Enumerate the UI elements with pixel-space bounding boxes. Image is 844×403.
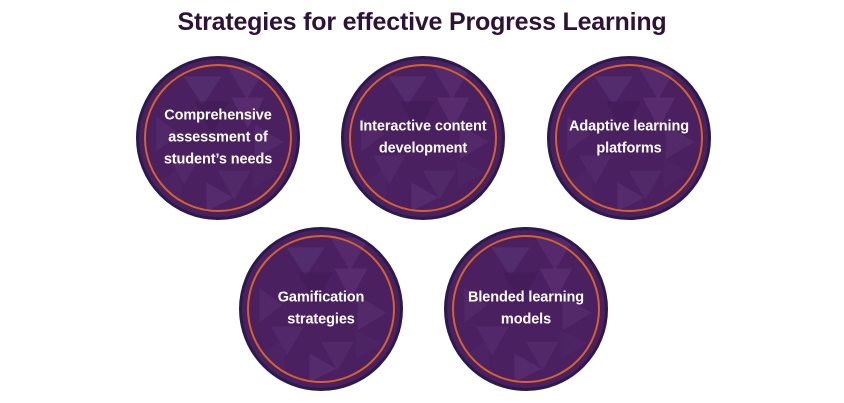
page-title: Strategies for effective Progress Learni… — [0, 8, 844, 37]
strategy-circle-interactive-content[interactable]: Interactive content development — [341, 56, 505, 220]
strategy-label: Gamification strategies — [250, 287, 392, 331]
strategy-circle-gamification[interactable]: Gamification strategies — [239, 227, 403, 391]
strategy-circle-comprehensive-assessment[interactable]: Comprehensive assessment of student’s ne… — [136, 56, 300, 220]
strategy-label: Interactive content development — [352, 116, 494, 160]
strategy-label: Blended learning models — [455, 287, 597, 331]
strategy-label: Comprehensive assessment of student’s ne… — [147, 105, 289, 170]
strategy-label: Adaptive learning platforms — [558, 116, 700, 160]
strategy-circle-adaptive-learning[interactable]: Adaptive learning platforms — [547, 56, 711, 220]
diagram-canvas: Strategies for effective Progress Learni… — [0, 0, 844, 403]
strategy-circle-blended-learning[interactable]: Blended learning models — [444, 227, 608, 391]
